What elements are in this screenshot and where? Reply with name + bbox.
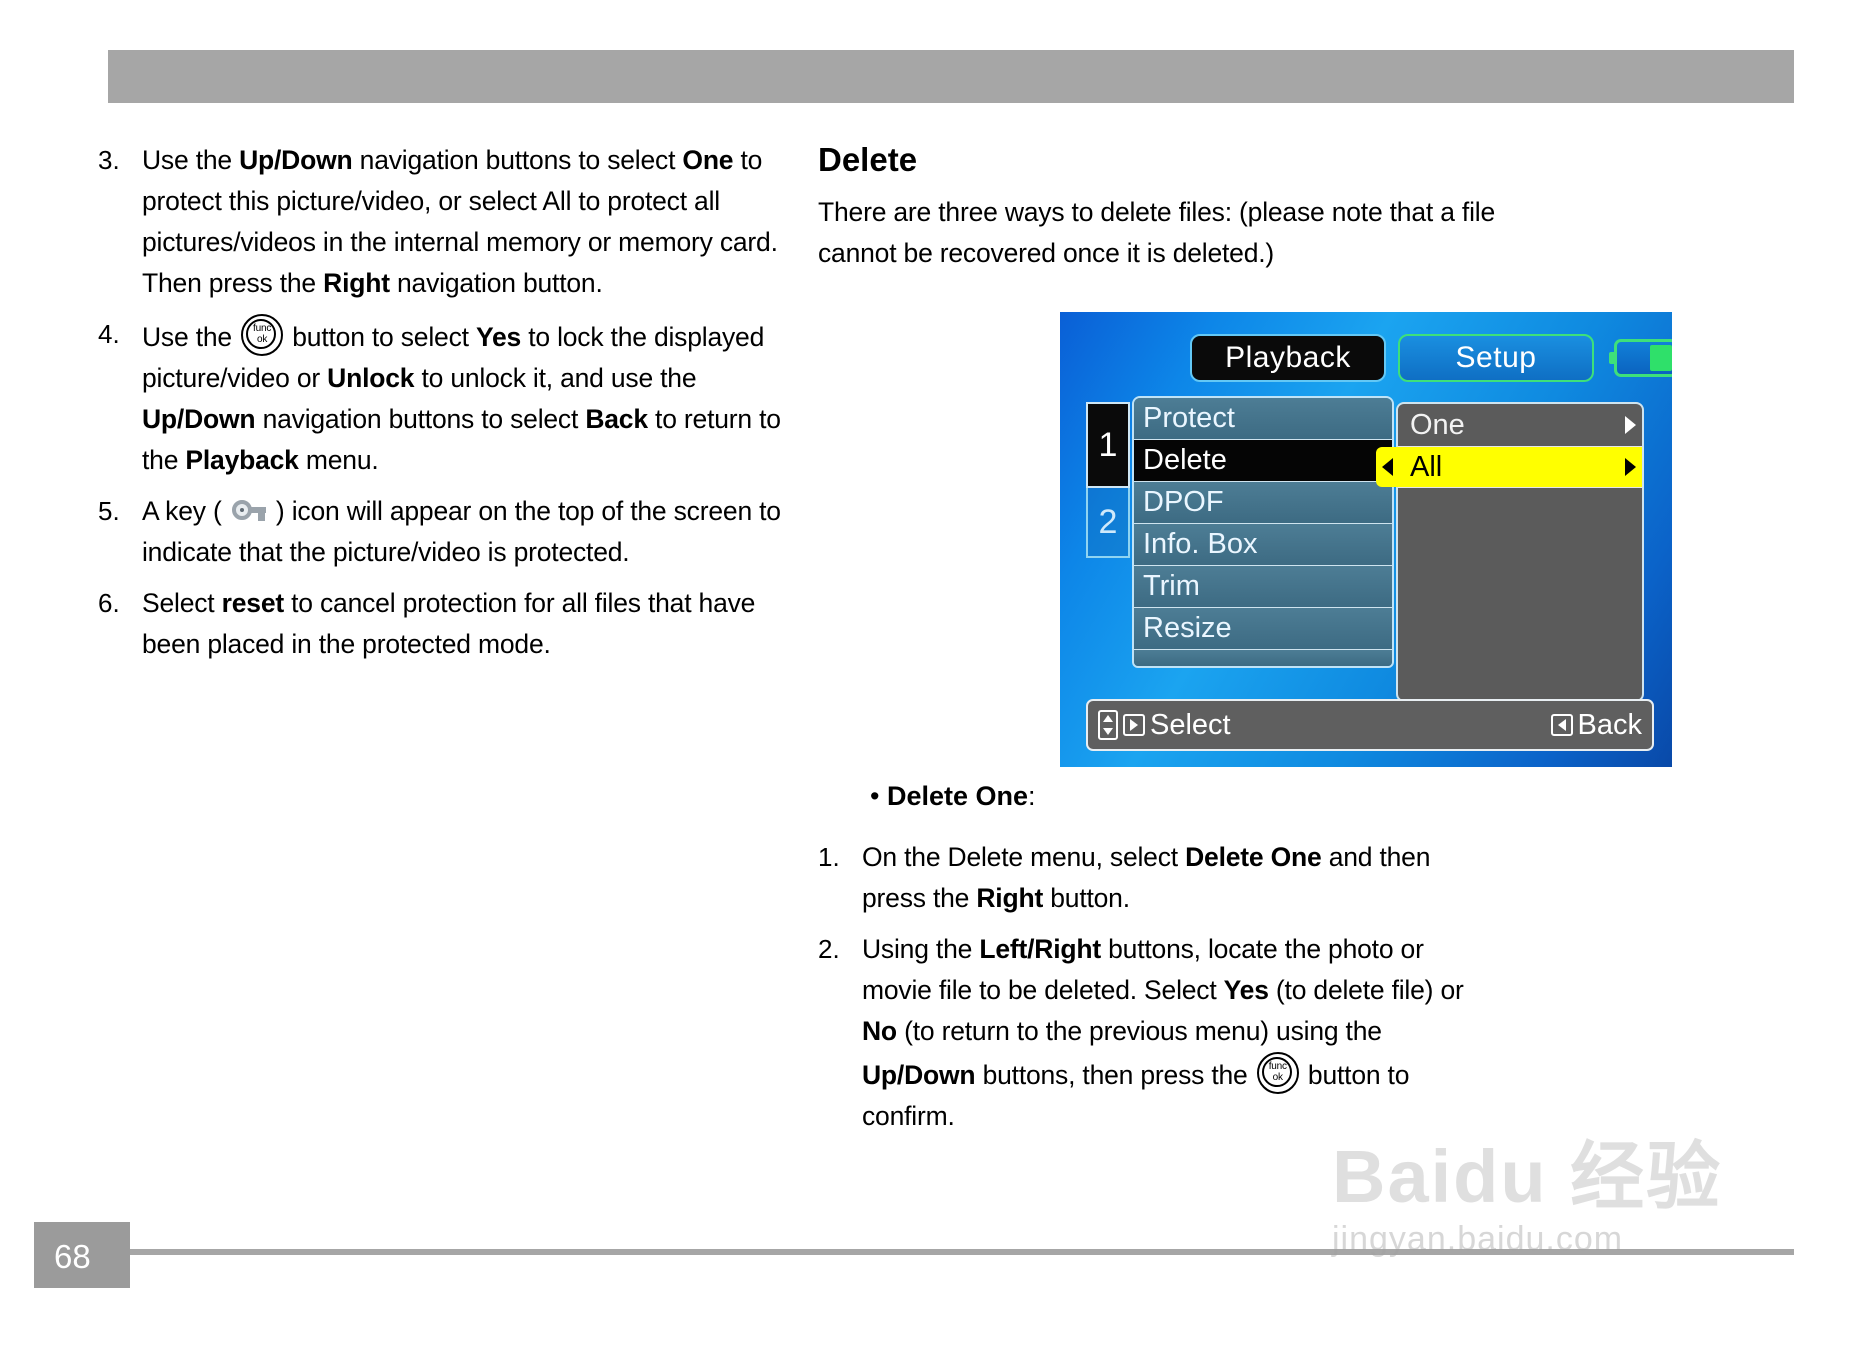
func-ok-icon-top-label: func (243, 324, 281, 334)
left-column: 3.Use the Up/Down navigation buttons to … (98, 140, 788, 675)
lcd-menu-item-protect[interactable]: Protect (1134, 398, 1392, 440)
lcd-menu-item-delete[interactable]: Delete (1134, 440, 1392, 482)
left-steps-list: 3.Use the Up/Down navigation buttons to … (98, 140, 788, 665)
lcd-submenu-item-all-label: All (1410, 451, 1442, 484)
left-arrow-icon (1551, 714, 1573, 736)
chevron-left-icon (1382, 458, 1393, 476)
lcd-page-marker-2: 2 (1086, 488, 1130, 558)
right-steps-list: 1.On the Delete menu, select Delete One … (818, 837, 1498, 1137)
lcd-submenu-item-one-label: One (1410, 409, 1465, 442)
delete-one-bullet: • Delete One: (870, 776, 1498, 817)
list-item: 6.Select reset to cancel protection for … (98, 583, 788, 665)
page-header-bar (108, 50, 1794, 103)
list-item: 4.Use the funcok button to select Yes to… (98, 314, 788, 481)
lcd-tab-bar: Playback Setup (1190, 334, 1672, 382)
func-ok-icon-bottom-label: ok (243, 335, 281, 345)
lcd-menu-item-dpof[interactable]: DPOF (1134, 482, 1392, 524)
func-ok-icon-bottom-label: ok (1259, 1073, 1297, 1083)
list-item: 5.A key ( ) icon will appear on the top … (98, 491, 788, 573)
func-ok-button-icon: funcok (1257, 1052, 1299, 1094)
lcd-menu-list: Protect Delete DPOF Info. Box Trim Resiz… (1132, 396, 1394, 668)
lcd-tab-setup[interactable]: Setup (1398, 334, 1594, 382)
list-item-text: On the Delete menu, select Delete One an… (862, 837, 1498, 919)
list-item-number: 4. (98, 314, 142, 355)
list-item-text: A key ( ) icon will appear on the top of… (142, 491, 788, 573)
list-item: 3.Use the Up/Down navigation buttons to … (98, 140, 788, 304)
camera-lcd-screenshot: Playback Setup 1 2 Protect Delete DPOF I… (1060, 312, 1672, 767)
watermark-main-text: Baidu 经验 (1332, 1140, 1722, 1214)
list-item-text: Use the funcok button to select Yes to l… (142, 314, 788, 481)
lcd-menu-item-resize[interactable]: Resize (1134, 608, 1392, 650)
lcd-submenu-item-all[interactable]: All (1398, 446, 1642, 488)
up-down-arrows-icon (1098, 710, 1118, 740)
lcd-page-marker-1: 1 (1086, 402, 1130, 488)
lcd-menu-item-info-box[interactable]: Info. Box (1134, 524, 1392, 566)
lcd-back-label: Back (1578, 709, 1642, 742)
bullet-suffix: : (1028, 781, 1036, 811)
section-heading-delete: Delete (818, 140, 1498, 180)
battery-icon (1614, 339, 1672, 377)
lcd-submenu-item-one[interactable]: One (1398, 404, 1642, 446)
list-item-text: Use the Up/Down navigation buttons to se… (142, 140, 788, 304)
page-number: 68 (54, 1238, 91, 1276)
lcd-page-markers: 1 2 (1086, 402, 1130, 558)
lcd-submenu: One All (1396, 402, 1644, 702)
list-item: 1.On the Delete menu, select Delete One … (818, 837, 1498, 919)
lcd-menu-list-pad (1134, 650, 1392, 666)
list-item-text: Using the Left/Right buttons, locate the… (862, 929, 1498, 1137)
lcd-tab-setup-label: Setup (1456, 341, 1537, 375)
lcd-tab-playback[interactable]: Playback (1190, 334, 1386, 382)
lcd-select-label: Select (1150, 709, 1231, 742)
page-footer-rule (108, 1249, 1794, 1255)
lcd-bottom-bar: Select Back (1086, 699, 1654, 751)
bullet-label: Delete One (887, 781, 1028, 811)
lcd-tab-playback-label: Playback (1225, 341, 1351, 375)
list-item-number: 5. (98, 491, 142, 532)
baidu-watermark: Baidu 经验 jingyan.baidu.com (1332, 1140, 1722, 1259)
lcd-menu-area: 1 2 Protect Delete DPOF Info. Box Trim R… (1086, 396, 1654, 689)
func-ok-button-icon: funcok (241, 314, 283, 356)
list-item-number: 6. (98, 583, 142, 624)
chevron-right-icon (1625, 416, 1636, 434)
chevron-right-icon (1625, 458, 1636, 476)
key-protect-icon (232, 499, 266, 525)
lcd-menu-item-trim[interactable]: Trim (1134, 566, 1392, 608)
delete-intro-text: There are three ways to delete files: (p… (818, 192, 1498, 274)
lcd-select-hint: Select (1098, 709, 1231, 742)
lcd-back-hint: Back (1551, 709, 1642, 742)
list-item-text: Select reset to cancel protection for al… (142, 583, 788, 665)
bullet-marker: • (870, 781, 879, 811)
page-number-box: 68 (34, 1222, 130, 1288)
list-item-number: 1. (818, 837, 862, 878)
func-ok-icon-top-label: func (1259, 1062, 1297, 1072)
list-item: 2.Using the Left/Right buttons, locate t… (818, 929, 1498, 1137)
right-arrow-icon (1123, 714, 1145, 736)
list-item-number: 3. (98, 140, 142, 181)
list-item-number: 2. (818, 929, 862, 970)
